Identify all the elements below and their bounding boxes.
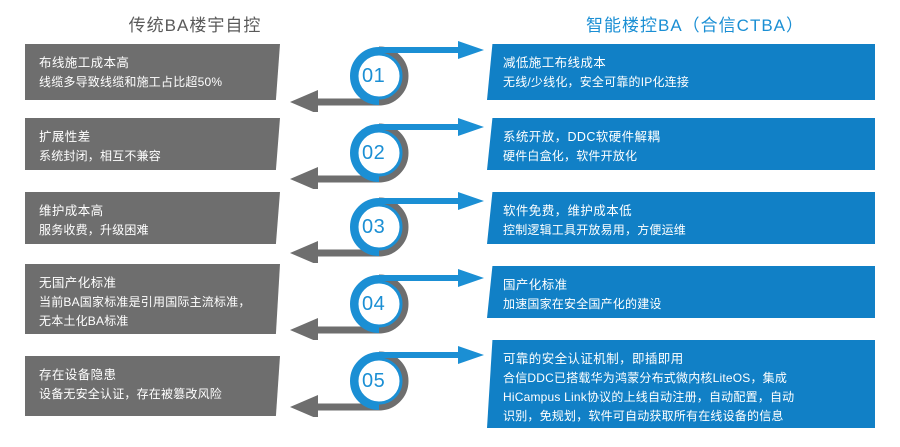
smart-panel: 国产化标准加速国家在安全国产化的建设	[487, 266, 875, 318]
smart-panel-title: 减低施工布线成本	[503, 53, 875, 73]
legacy-panel-desc-line: 无本土化BA标准	[39, 312, 280, 331]
smart-panel-title: 系统开放，DDC软硬件解耦	[503, 127, 875, 147]
row-connector: 03	[278, 191, 493, 263]
blue-arrow-head	[458, 269, 484, 287]
smart-panel-desc-line: 合信DDC已搭载华为鸿蒙分布式微内核LiteOS，集成	[503, 369, 875, 388]
smart-panel-title: 软件免费，维护成本低	[503, 201, 875, 221]
step-number-badge: 03	[278, 191, 493, 263]
row-connector: 05	[278, 345, 493, 417]
badge-circle-fill	[357, 205, 401, 249]
gray-loop-path	[318, 50, 405, 102]
step-number-badge: 05	[278, 345, 493, 417]
gray-arrow-head	[290, 90, 318, 112]
row-connector: 01	[278, 40, 493, 112]
legacy-panel: 布线施工成本高线缆多导致线缆和施工占比超50%	[25, 44, 280, 100]
step-number-badge: 01	[278, 40, 493, 112]
smart-panel: 可靠的安全认证机制，即插即用合信DDC已搭载华为鸿蒙分布式微内核LiteOS，集…	[487, 340, 875, 428]
gray-arrow-head	[290, 395, 318, 417]
connector-graphic	[278, 345, 493, 417]
badge-circle-ring	[357, 359, 401, 403]
legacy-panel-title: 布线施工成本高	[39, 53, 280, 73]
badge-circle-fill	[357, 54, 401, 98]
blue-arrow-head	[458, 192, 484, 210]
legacy-panel-desc-line: 系统封闭，相互不兼容	[39, 147, 280, 166]
smart-panel: 系统开放，DDC软硬件解耦硬件白盒化，软件开放化	[487, 118, 875, 170]
blue-loop-path	[353, 50, 460, 102]
blue-loop-path	[353, 127, 460, 179]
legacy-panel-title: 存在设备隐患	[39, 365, 280, 385]
legacy-panel: 扩展性差系统封闭，相互不兼容	[25, 118, 280, 170]
step-number-badge: 02	[278, 117, 493, 189]
connector-graphic	[278, 268, 493, 340]
smart-panel-desc-line: 控制逻辑工具开放易用，方便运维	[503, 221, 875, 240]
smart-panel: 减低施工布线成本无线/少线化，安全可靠的IP化连接	[487, 44, 875, 100]
smart-panel-desc-line: 硬件白盒化，软件开放化	[503, 147, 875, 166]
smart-panel-desc-line: 无线/少线化，安全可靠的IP化连接	[503, 73, 875, 92]
legacy-panel: 无国产化标准当前BA国家标准是引用国际主流标准，无本土化BA标准	[25, 264, 280, 334]
legacy-panel: 维护成本高服务收费，升级困难	[25, 192, 280, 244]
legacy-panel-desc-line: 线缆多导致线缆和施工占比超50%	[39, 73, 280, 92]
badge-circle-ring	[357, 131, 401, 175]
connector-graphic	[278, 191, 493, 263]
legacy-panel-title: 维护成本高	[39, 201, 280, 221]
comparison-infographic: 传统BA楼宇自控 智能楼控BA（合信CTBA） 布线施工成本高线缆多导致线缆和施…	[0, 0, 900, 447]
badge-circle-fill	[357, 131, 401, 175]
connector-graphic	[278, 117, 493, 189]
legacy-panel: 存在设备隐患设备无安全认证，存在被篡改风险	[25, 356, 280, 416]
gray-loop-path	[318, 127, 405, 179]
smart-panel: 软件免费，维护成本低控制逻辑工具开放易用，方便运维	[487, 192, 875, 244]
legacy-panel-desc-line: 服务收费，升级困难	[39, 221, 280, 240]
badge-circle-ring	[357, 282, 401, 326]
left-column-header: 传统BA楼宇自控	[0, 11, 390, 36]
gray-loop-path	[318, 278, 405, 330]
row-connector: 04	[278, 268, 493, 340]
smart-panel-desc-line: 识别，免规划，软件可自动获取所有在线设备的信息	[503, 407, 875, 426]
blue-arrow-head	[458, 41, 484, 59]
legacy-panel-desc-line: 设备无安全认证，存在被篡改风险	[39, 385, 280, 404]
gray-arrow-head	[290, 318, 318, 340]
legacy-panel-title: 扩展性差	[39, 127, 280, 147]
gray-loop-path	[318, 355, 405, 407]
badge-circle-ring	[357, 54, 401, 98]
gray-arrow-head	[290, 241, 318, 263]
smart-panel-title: 国产化标准	[503, 275, 875, 295]
blue-loop-path	[353, 278, 460, 330]
badge-circle-ring	[357, 205, 401, 249]
row-connector: 02	[278, 117, 493, 189]
smart-panel-desc-line: 加速国家在安全国产化的建设	[503, 295, 875, 314]
badge-circle-fill	[357, 359, 401, 403]
smart-panel-desc-line: HiCampus Link协议的上线自动注册，自动配置，自动	[503, 388, 875, 407]
gray-loop-path	[318, 201, 405, 253]
blue-arrow-head	[458, 346, 484, 364]
step-number-badge: 04	[278, 268, 493, 340]
badge-circle-fill	[357, 282, 401, 326]
gray-arrow-head	[290, 167, 318, 189]
connector-graphic	[278, 40, 493, 112]
right-column-header: 智能楼控BA（合信CTBA）	[490, 11, 900, 36]
blue-loop-path	[353, 201, 460, 253]
legacy-panel-desc-line: 当前BA国家标准是引用国际主流标准，	[39, 293, 280, 312]
blue-loop-path	[353, 355, 460, 407]
smart-panel-title: 可靠的安全认证机制，即插即用	[503, 349, 875, 369]
blue-arrow-head	[458, 118, 484, 136]
legacy-panel-title: 无国产化标准	[39, 273, 280, 293]
